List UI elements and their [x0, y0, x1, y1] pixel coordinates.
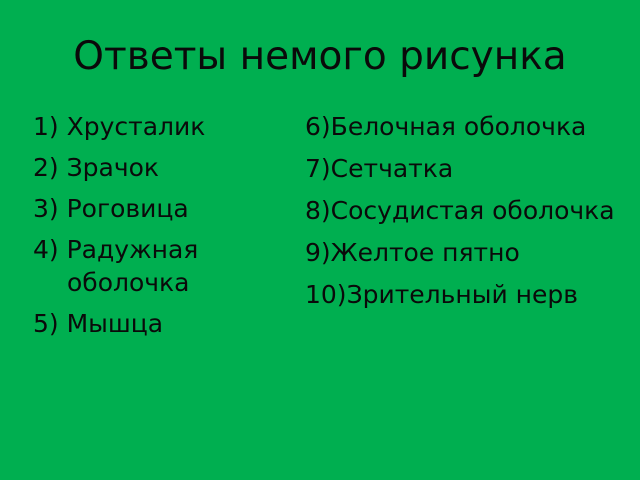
- answers-column-left: 1) Хрусталик 2) Зрачок 3) Роговица 4) Ра…: [0, 110, 300, 348]
- list-item-label: Белочная оболочка: [331, 112, 587, 141]
- list-item-marker: 4): [33, 235, 67, 264]
- list-item-label: Зрачок: [67, 153, 159, 182]
- list-item: 8)Сосудистая оболочка: [305, 194, 628, 227]
- list-item-label: Желтое пятно: [331, 238, 520, 267]
- list-item-marker: 10): [305, 280, 347, 309]
- presentation-slide: Ответы немого рисунка 1) Хрусталик 2) Зр…: [0, 0, 640, 480]
- list-item: 3) Роговица: [33, 192, 292, 225]
- list-item: 4) Радужная оболочка: [33, 233, 292, 299]
- list-item: 9)Желтое пятно: [305, 236, 628, 269]
- list-item: 10)Зрительный нерв: [305, 278, 628, 311]
- list-item: 5) Мышца: [33, 307, 292, 340]
- answers-column-right: 6)Белочная оболочка 7)Сетчатка 8)Сосудис…: [300, 110, 640, 320]
- list-item-marker: 1): [33, 112, 67, 141]
- answer-list-left: 1) Хрусталик 2) Зрачок 3) Роговица 4) Ра…: [33, 110, 292, 340]
- list-item-marker: 8): [305, 196, 331, 225]
- list-item-marker: 3): [33, 194, 67, 223]
- list-item-marker: 2): [33, 153, 67, 182]
- list-item-label: Радужная оболочка: [67, 235, 199, 297]
- list-item: 2) Зрачок: [33, 151, 292, 184]
- answers-columns: 1) Хрусталик 2) Зрачок 3) Роговица 4) Ра…: [0, 110, 640, 348]
- list-item: 6)Белочная оболочка: [305, 110, 628, 143]
- list-item-marker: 9): [305, 238, 331, 267]
- list-item-label: Зрительный нерв: [347, 280, 578, 309]
- list-item-label: Сосудистая оболочка: [331, 196, 615, 225]
- list-item-marker: 7): [305, 154, 331, 183]
- answer-list-right: 6)Белочная оболочка 7)Сетчатка 8)Сосудис…: [305, 110, 628, 311]
- list-item-marker: 6): [305, 112, 331, 141]
- page-title: Ответы немого рисунка: [40, 34, 600, 80]
- list-item-label: Роговица: [67, 194, 189, 223]
- list-item: 1) Хрусталик: [33, 110, 292, 143]
- list-item-label: Сетчатка: [331, 154, 453, 183]
- list-item-label: Хрусталик: [67, 112, 206, 141]
- list-item-marker: 5): [33, 309, 67, 338]
- list-item-label: Мышца: [67, 309, 164, 338]
- list-item: 7)Сетчатка: [305, 152, 628, 185]
